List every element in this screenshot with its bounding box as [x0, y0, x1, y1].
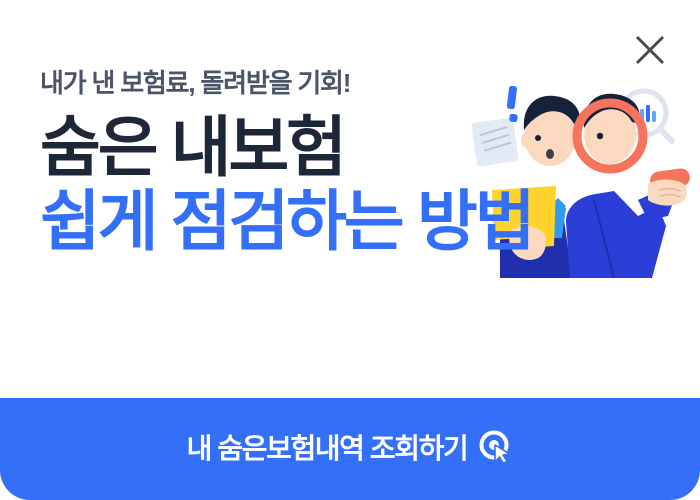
- cta-button[interactable]: 내 숨은보험내역 조회하기: [0, 398, 700, 500]
- promo-banner: 내가 낸 보험료, 돌려받을 기회! 숨은 내보험 쉽게 점검하는 방법: [0, 0, 700, 500]
- click-target-cursor-icon: [479, 430, 513, 469]
- banner-subtitle: 내가 낸 보험료, 돌려받을 기회!: [40, 68, 660, 99]
- cta-label: 내 숨은보험내역 조회하기: [187, 435, 468, 463]
- headline-block: 내가 낸 보험료, 돌려받을 기회! 숨은 내보험 쉽게 점검하는 방법: [40, 68, 660, 257]
- headline-line-2: 쉽게 점검하는 방법: [40, 187, 660, 257]
- close-x-icon: [633, 33, 667, 67]
- headline-line-1: 숨은 내보험: [40, 113, 660, 183]
- close-button[interactable]: [630, 30, 670, 70]
